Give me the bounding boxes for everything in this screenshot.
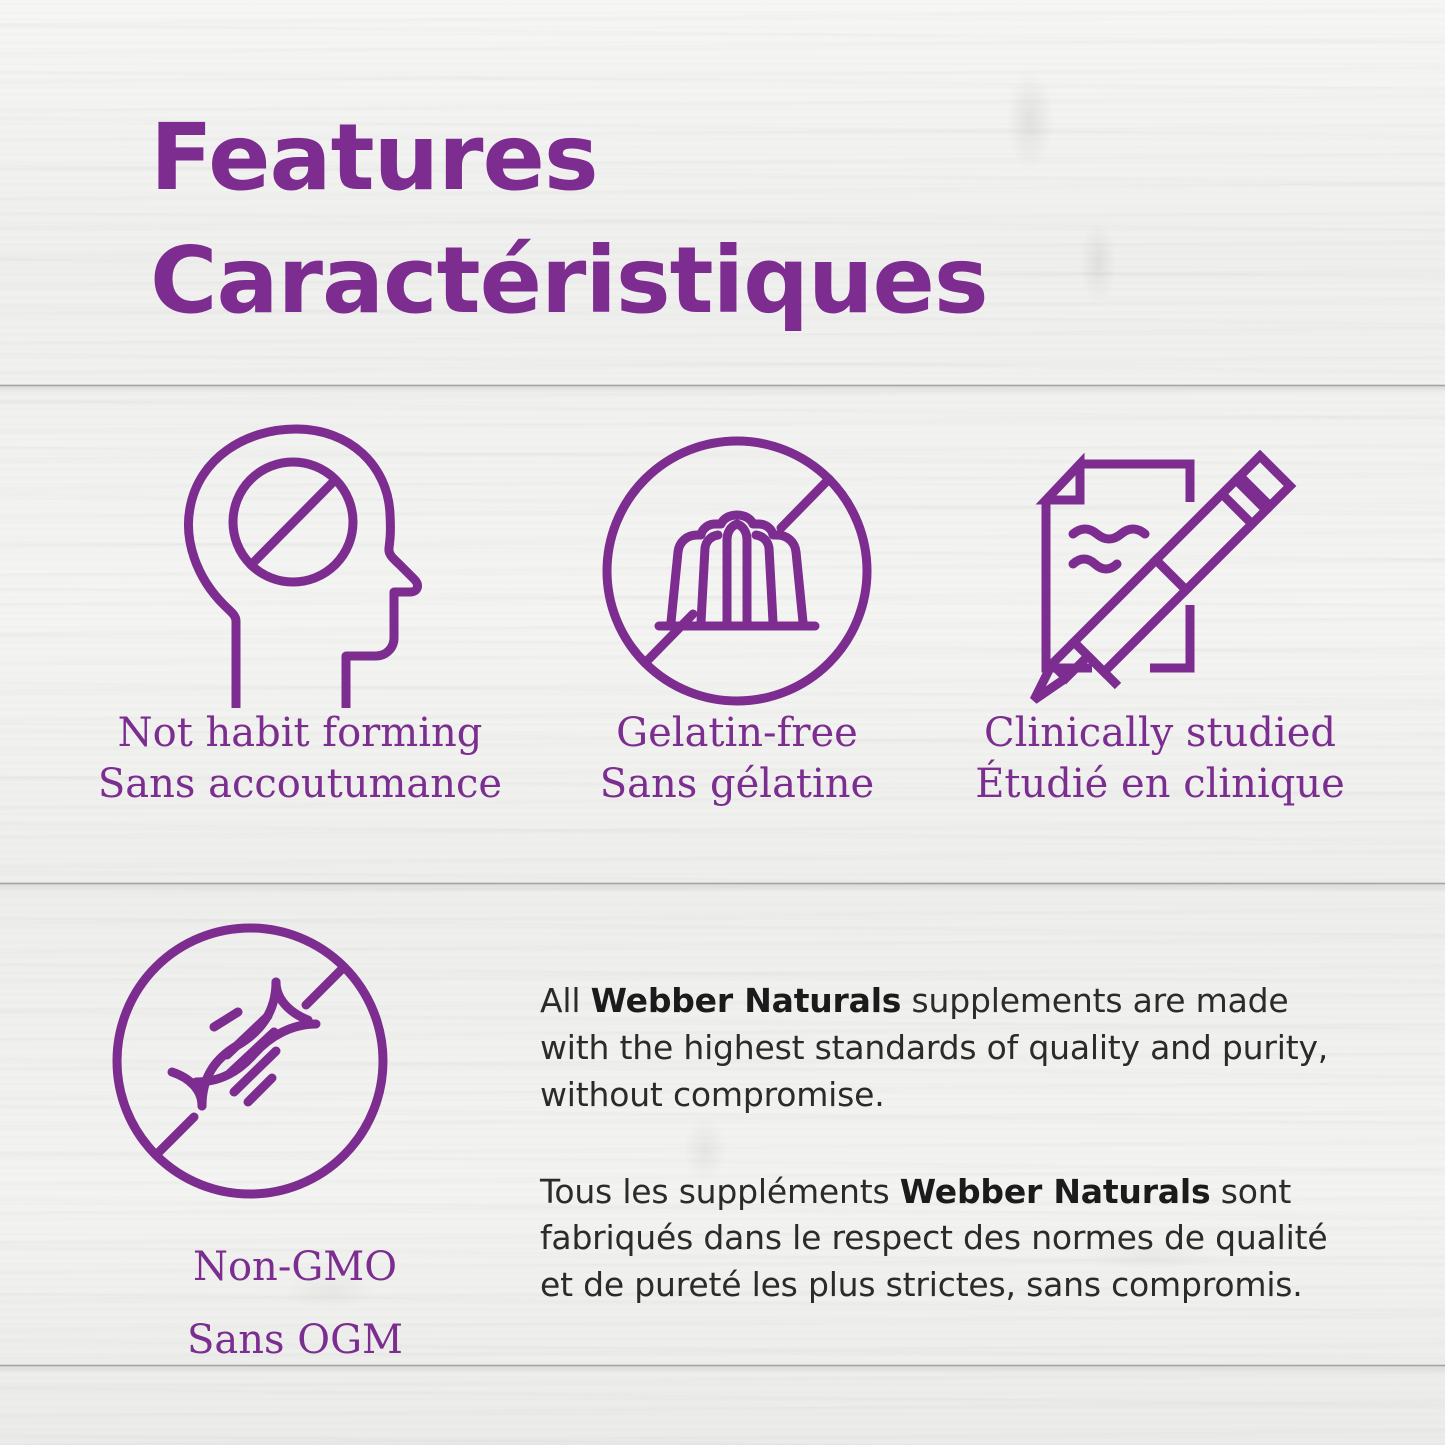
icon-wrap [110, 920, 480, 1220]
icon-wrap [552, 418, 922, 708]
page-title-fr: Caractéristiques [150, 219, 988, 342]
page-title: Features Caractéristiques [150, 96, 988, 343]
feature-label-fr: Étudié en clinique [930, 759, 1390, 810]
brand-copy-block: All Webber Naturals supplements are made… [540, 978, 1330, 1309]
feature-label-en: Not habit forming [40, 708, 560, 759]
feature-label-en: Clinically studied [930, 708, 1390, 759]
icon-wrap [930, 418, 1390, 708]
document-pen-icon [1018, 450, 1302, 708]
feature-label-fr: Sans gélatine [552, 759, 922, 810]
brand-copy-fr: Tous les suppléments Webber Naturals son… [540, 1169, 1330, 1310]
head-no-pill-icon [172, 422, 428, 708]
feature-non-gmo: Non-GMO Sans OGM [110, 920, 480, 1366]
copy-fr-brand: Webber Naturals [900, 1172, 1211, 1211]
feature-label-en: Gelatin-free [552, 708, 922, 759]
feature-label-en: Non-GMO [110, 1242, 480, 1293]
feature-not-habit-forming: Not habit forming Sans accoutumance [40, 418, 560, 810]
feature-label-fr: Sans OGM [110, 1315, 480, 1366]
feature-label-fr: Sans accoutumance [40, 759, 560, 810]
page-title-en: Features [150, 96, 988, 219]
no-gelatin-mold-icon [601, 434, 873, 708]
feature-panel: Features Caractéristiques Not habit form… [0, 0, 1445, 1445]
no-dna-icon [110, 920, 390, 1202]
brand-copy-en: All Webber Naturals supplements are made… [540, 978, 1330, 1119]
feature-gelatin-free: Gelatin-free Sans gélatine [552, 418, 922, 810]
copy-en-brand: Webber Naturals [591, 981, 902, 1020]
copy-fr-before: Tous les suppléments [540, 1172, 900, 1211]
feature-clinically-studied: Clinically studied Étudié en clinique [930, 418, 1390, 810]
icon-wrap [40, 418, 560, 708]
copy-en-before: All [540, 981, 591, 1020]
